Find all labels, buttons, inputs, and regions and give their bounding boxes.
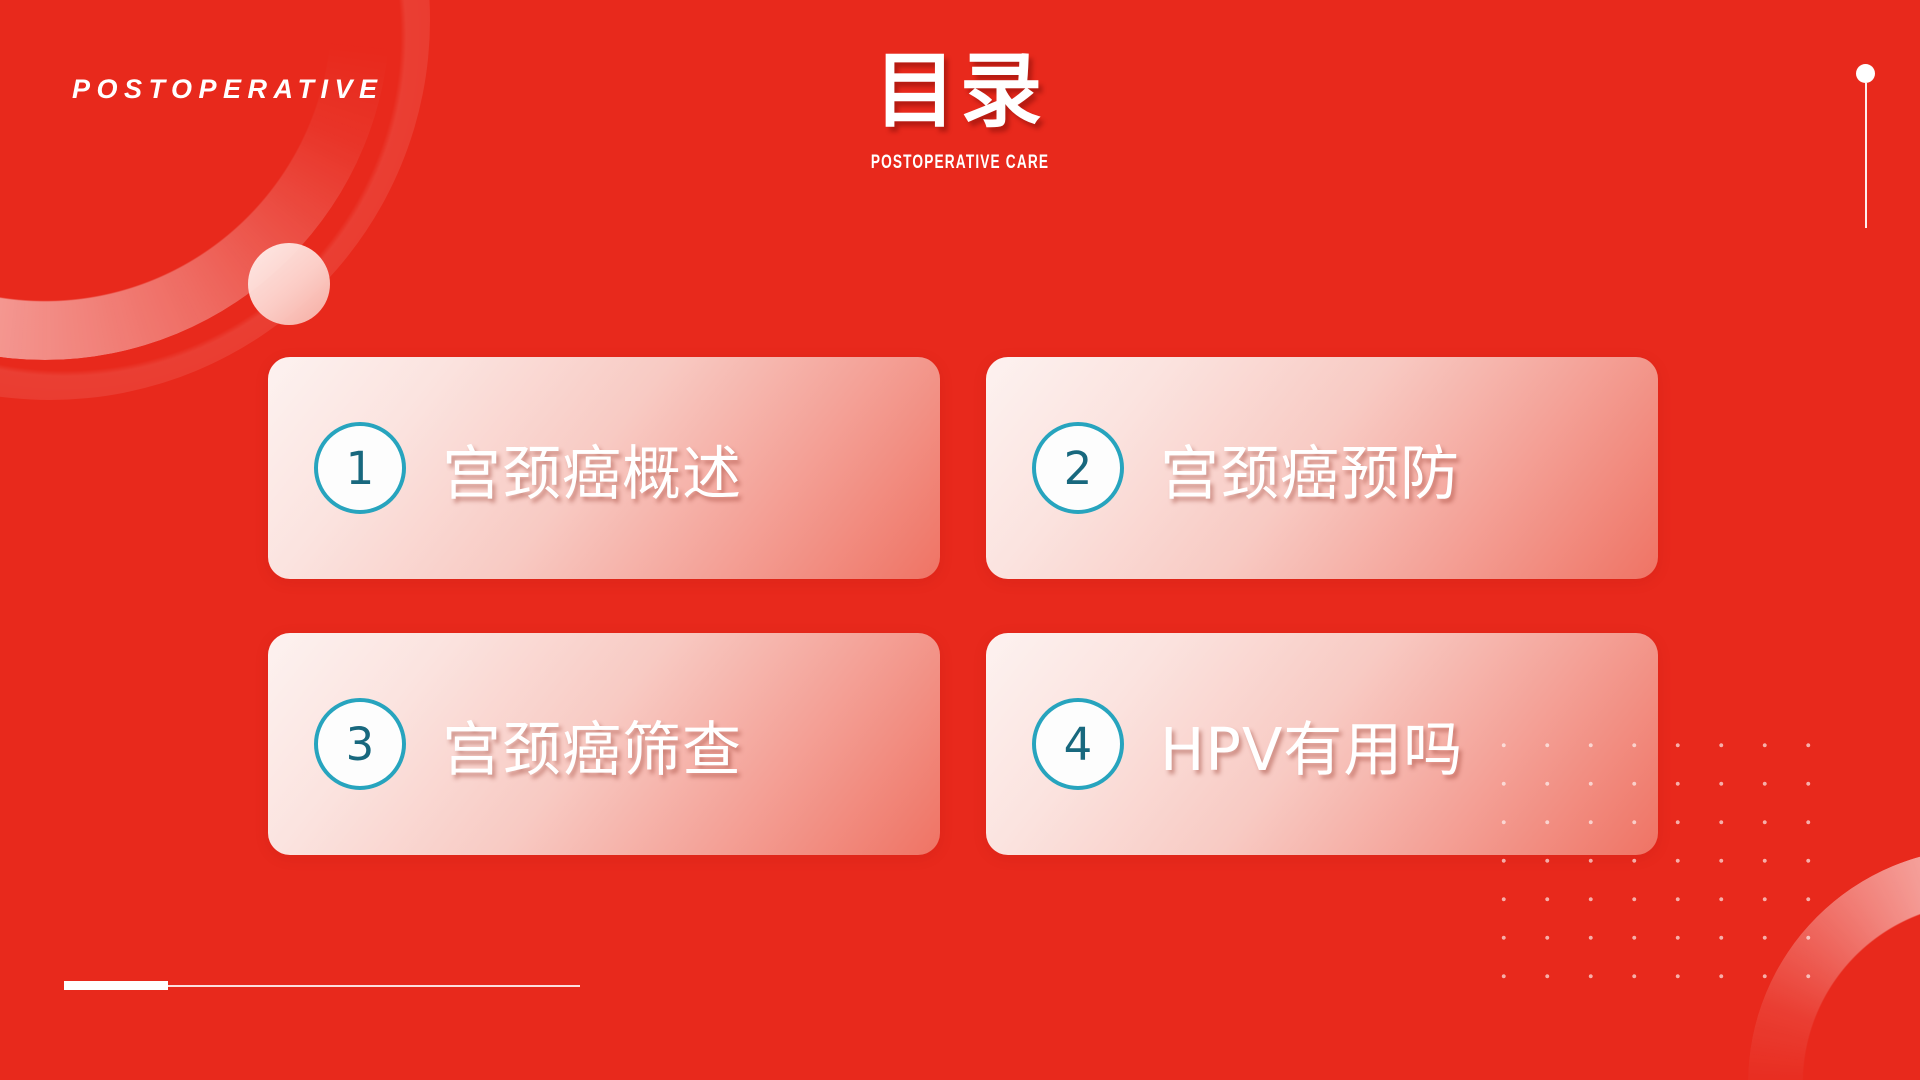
ring-bottom-right-decoration xyxy=(1748,848,1920,1080)
contents-item-label: 宫颈癌概述 xyxy=(442,426,742,511)
contents-item-number: 3 xyxy=(314,698,406,790)
progress-rule-filled xyxy=(64,981,168,990)
presentation-slide: POSTOPERATIVE 目录 POSTOPERATIVE CARE 1 宫颈… xyxy=(0,0,1920,1080)
contents-card-grid: 1 宫颈癌概述 2 宫颈癌预防 3 宫颈癌筛查 4 HPV有用吗 xyxy=(268,357,1658,855)
contents-item-label: 宫颈癌预防 xyxy=(1160,426,1460,511)
contents-item-1[interactable]: 1 宫颈癌概述 xyxy=(268,357,940,579)
progress-rule-track xyxy=(168,985,580,987)
contents-item-number: 1 xyxy=(314,422,406,514)
contents-item-3[interactable]: 3 宫颈癌筛查 xyxy=(268,633,940,855)
title-block: 目录 POSTOPERATIVE CARE xyxy=(0,50,1920,174)
page-title: 目录 xyxy=(0,50,1920,134)
contents-item-label: HPV有用吗 xyxy=(1160,702,1463,787)
contents-item-2[interactable]: 2 宫颈癌预防 xyxy=(986,357,1658,579)
contents-item-4[interactable]: 4 HPV有用吗 xyxy=(986,633,1658,855)
contents-item-number: 2 xyxy=(1032,422,1124,514)
sphere-top-left-decoration xyxy=(248,243,330,325)
page-subtitle: POSTOPERATIVE CARE xyxy=(269,152,1651,174)
contents-item-number: 4 xyxy=(1032,698,1124,790)
contents-item-label: 宫颈癌筛查 xyxy=(442,702,742,787)
